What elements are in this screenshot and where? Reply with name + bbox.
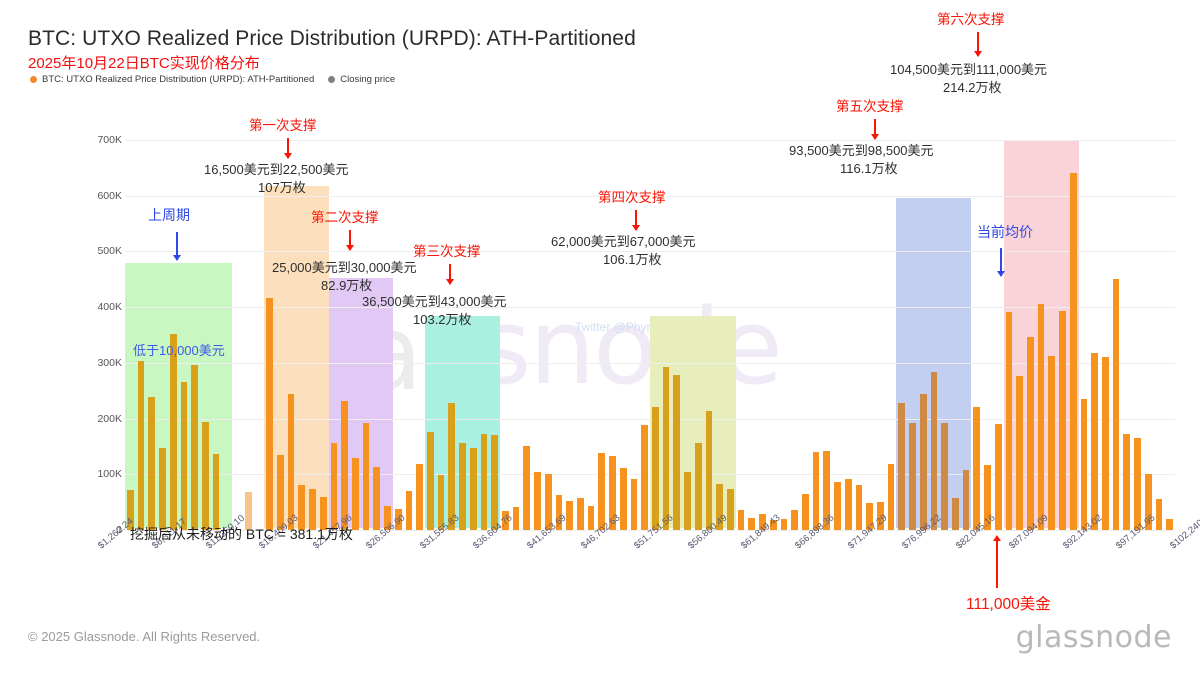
- chart-legend: BTC: UTXO Realized Price Distribution (U…: [30, 74, 395, 85]
- annotation-support-5-amount: 116.1万枚: [840, 161, 898, 177]
- chart-bar[interactable]: [663, 367, 670, 530]
- x-axis-tick: $66,898.36: [793, 538, 841, 556]
- x-axis-tick: $87,094.09: [1007, 538, 1055, 556]
- annotation-prev-cycle-arrow: [176, 232, 178, 260]
- chart-bar[interactable]: [727, 489, 734, 530]
- annotation-support-3-title: 第三次支撑: [413, 240, 481, 260]
- y-axis-tick: 100K: [62, 468, 122, 480]
- annotation-support-1-title: 第一次支撑: [249, 114, 317, 134]
- annotation-support-5-arrow: [874, 119, 876, 139]
- chart-bar[interactable]: [277, 455, 284, 530]
- legend-label-closing-price: Closing price: [340, 74, 395, 85]
- annotation-current-price-title: 当前均价: [977, 222, 1033, 242]
- chart-bar[interactable]: [952, 498, 959, 530]
- chart-bar[interactable]: [406, 491, 413, 530]
- x-axis-tick: $31,555.83: [418, 538, 466, 556]
- annotation-support-2-amount: 82.9万枚: [321, 278, 372, 294]
- x-axis-tick: $92,143.02: [1061, 538, 1109, 556]
- annotation-current-price-value: 111,000美金: [966, 592, 1051, 614]
- chart-bar[interactable]: [416, 464, 423, 530]
- x-axis-tick: $46,702.63: [579, 538, 627, 556]
- never-moved-note: 挖掘后从未移动的 BTC = 381.1万枚: [130, 524, 353, 544]
- chart-bar[interactable]: [845, 479, 852, 530]
- chart-bar[interactable]: [834, 482, 841, 530]
- chart-bar[interactable]: [1027, 337, 1034, 530]
- x-axis-tick: $26,506.90: [364, 538, 412, 556]
- chart-bar[interactable]: [523, 446, 530, 530]
- chart-bar[interactable]: [641, 425, 648, 530]
- annotation-support-3-range: 36,500美元到43,000美元: [362, 294, 507, 310]
- chart-bar[interactable]: [566, 501, 573, 530]
- y-axis-tick: 300K: [62, 357, 122, 369]
- annotation-support-3-arrow: [449, 264, 451, 284]
- gridline: [125, 140, 1175, 141]
- annotation-prev-cycle-sub: 低于10,000美元: [133, 340, 225, 359]
- chart-bar[interactable]: [491, 435, 498, 530]
- annotation-support-4-amount: 106.1万枚: [603, 252, 662, 268]
- chart-bar[interactable]: [481, 434, 488, 530]
- copyright-text: © 2025 Glassnode. All Rights Reserved.: [28, 629, 260, 644]
- chart-bar[interactable]: [1038, 304, 1045, 530]
- chart-bar[interactable]: [909, 423, 916, 530]
- chart-bar[interactable]: [577, 498, 584, 530]
- current-price-axis-arrow: [996, 540, 998, 588]
- chart-bar[interactable]: [684, 472, 691, 530]
- legend-dot-closing-price: [328, 76, 335, 83]
- chart-bar[interactable]: [791, 510, 798, 530]
- chart-bar[interactable]: [973, 407, 980, 530]
- highlight-band-support-2: [329, 278, 393, 528]
- chart-bar[interactable]: [459, 443, 466, 530]
- chart-bar[interactable]: [1166, 519, 1173, 530]
- x-axis-tick: $36,604.76: [471, 538, 519, 556]
- chart-bar[interactable]: [802, 494, 809, 530]
- y-axis-tick: 600K: [62, 190, 122, 202]
- chart-bar[interactable]: [202, 422, 209, 530]
- gridline: [125, 307, 1175, 308]
- chart-bar[interactable]: [331, 443, 338, 530]
- chart-bar[interactable]: [159, 448, 166, 530]
- chart-bar[interactable]: [1006, 312, 1013, 530]
- y-axis-tick: 500K: [62, 245, 122, 257]
- chart-bar[interactable]: [1113, 279, 1120, 530]
- chart-bar[interactable]: [1081, 399, 1088, 530]
- chart-bar[interactable]: [706, 411, 713, 530]
- chart-bar[interactable]: [170, 334, 177, 530]
- chart-bar[interactable]: [1102, 357, 1109, 530]
- annotation-prev-cycle-title: 上周期: [148, 205, 190, 225]
- chart-bar[interactable]: [963, 470, 970, 530]
- chart-bar[interactable]: [213, 454, 220, 530]
- y-axis-tick: 200K: [62, 413, 122, 425]
- chart-bar[interactable]: [341, 401, 348, 530]
- chart-bar[interactable]: [288, 394, 295, 530]
- x-axis-tick: $41,653.69: [525, 538, 573, 556]
- chart-bar[interactable]: [148, 397, 155, 530]
- y-axis-tick: 700K: [62, 134, 122, 146]
- annotation-support-6-title: 第六次支撑: [937, 8, 1005, 28]
- chart-bar[interactable]: [1016, 376, 1023, 530]
- chart-bar[interactable]: [1070, 173, 1077, 530]
- chart-bar[interactable]: [138, 361, 145, 530]
- chart-bar[interactable]: [513, 507, 520, 530]
- chart-bar[interactable]: [427, 432, 434, 530]
- chart-bar[interactable]: [470, 448, 477, 530]
- annotation-support-1-arrow: [287, 138, 289, 158]
- annotation-support-1-amount: 107万枚: [258, 180, 306, 196]
- chart-bar[interactable]: [1048, 356, 1055, 530]
- x-axis-tick: $56,800.49: [686, 538, 734, 556]
- chart-bar[interactable]: [1156, 499, 1163, 530]
- legend-item-urpd[interactable]: BTC: UTXO Realized Price Distribution (U…: [30, 74, 314, 85]
- chart-bar[interactable]: [266, 298, 273, 530]
- x-axis-tick: $97,191.95: [1114, 538, 1162, 556]
- annotation-current-price-arrow: [1000, 248, 1002, 276]
- x-axis-tick: $102,240.89: [1168, 538, 1200, 556]
- annotation-support-4-title: 第四次支撑: [598, 186, 666, 206]
- chart-page: BTC: UTXO Realized Price Distribution (U…: [0, 0, 1200, 675]
- annotation-support-5-range: 93,500美元到98,500美元: [789, 143, 934, 159]
- chart-bar[interactable]: [931, 372, 938, 530]
- chart-bar[interactable]: [1134, 438, 1141, 530]
- chart-bar[interactable]: [920, 394, 927, 530]
- chart-bar[interactable]: [748, 518, 755, 530]
- x-axis-tick: $61,849.43: [739, 538, 787, 556]
- highlight-band-support-1: [264, 186, 328, 528]
- legend-item-closing-price[interactable]: Closing price: [328, 74, 395, 85]
- annotation-support-4-arrow: [635, 210, 637, 230]
- chart-bar[interactable]: [191, 365, 198, 530]
- chart-bar[interactable]: [1091, 353, 1098, 530]
- chart-bar[interactable]: [534, 472, 541, 530]
- annotation-support-6-range: 104,500美元到111,000美元: [890, 62, 1047, 78]
- y-axis-tick: 400K: [62, 301, 122, 313]
- chart-bar[interactable]: [673, 375, 680, 530]
- x-axis-tick: $51,751.56: [632, 538, 680, 556]
- annotation-support-4-range: 62,000美元到67,000美元: [551, 234, 696, 250]
- annotation-support-6-arrow: [977, 32, 979, 56]
- annotation-support-3-amount: 103.2万枚: [413, 312, 472, 328]
- annotation-support-1-range: 16,500美元到22,500美元: [204, 162, 349, 178]
- gridline: [125, 363, 1175, 364]
- x-axis-tick: $76,996.22: [900, 538, 948, 556]
- x-axis-tick: $71,947.29: [846, 538, 894, 556]
- annotation-support-2-title: 第二次支撑: [311, 206, 379, 226]
- chart-bar[interactable]: [1123, 434, 1130, 530]
- chart-bar[interactable]: [448, 403, 455, 530]
- chart-bar[interactable]: [598, 453, 605, 530]
- page-title: BTC: UTXO Realized Price Distribution (U…: [28, 27, 636, 51]
- glassnode-logo: glassnode: [1016, 620, 1172, 655]
- chart-bar[interactable]: [631, 479, 638, 530]
- chart-bar[interactable]: [941, 423, 948, 530]
- chart-bar[interactable]: [995, 424, 1002, 530]
- chart-bar[interactable]: [181, 382, 188, 530]
- chart-bar[interactable]: [588, 506, 595, 531]
- page-subtitle: 2025年10月22日BTC实现价格分布: [28, 52, 260, 73]
- chart-bar[interactable]: [363, 423, 370, 530]
- chart-bar[interactable]: [695, 443, 702, 530]
- annotation-support-6-amount: 214.2万枚: [943, 80, 1002, 96]
- chart-bar[interactable]: [1059, 311, 1066, 531]
- chart-bar[interactable]: [373, 467, 380, 531]
- legend-label-urpd: BTC: UTXO Realized Price Distribution (U…: [42, 74, 314, 85]
- annotation-support-2-arrow: [349, 230, 351, 250]
- chart-bar[interactable]: [738, 510, 745, 530]
- chart-bar[interactable]: [856, 485, 863, 530]
- annotation-support-2-range: 25,000美元到30,000美元: [272, 260, 417, 276]
- chart-bar[interactable]: [813, 452, 820, 530]
- legend-dot-urpd: [30, 76, 37, 83]
- chart-bar[interactable]: [898, 403, 905, 530]
- annotation-support-5-title: 第五次支撑: [836, 95, 904, 115]
- chart-bar[interactable]: [652, 407, 659, 530]
